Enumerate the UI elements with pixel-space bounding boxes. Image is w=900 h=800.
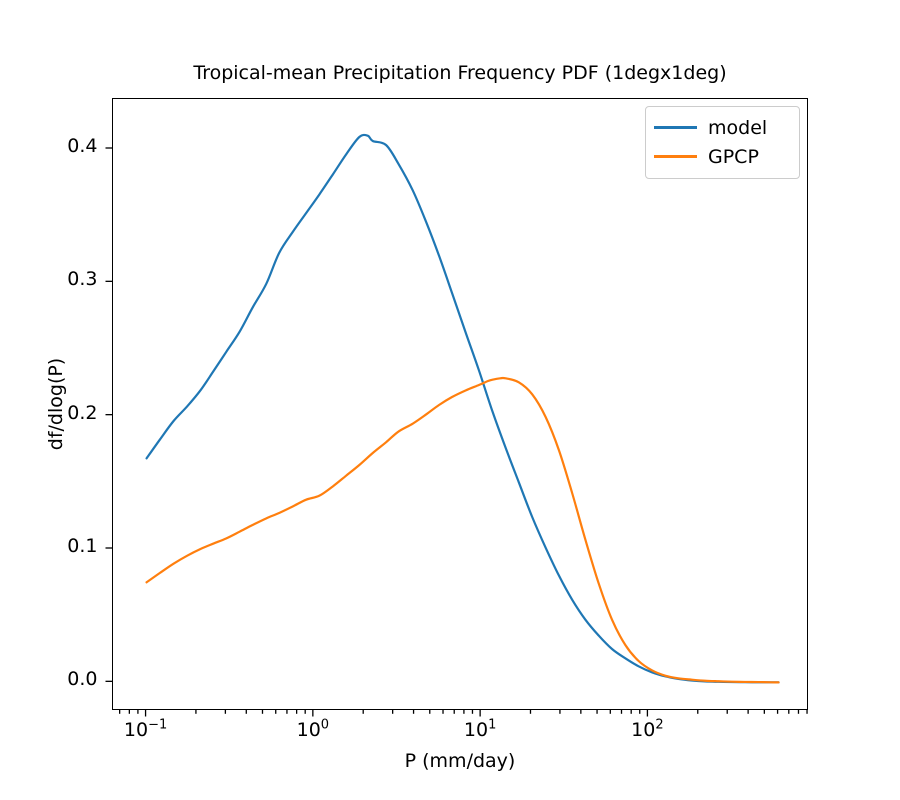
legend-box: model GPCP: [645, 106, 800, 179]
x-axis-label: P (mm/day): [112, 750, 808, 772]
x-tick-label: 100: [263, 719, 363, 741]
y-axis-label: df/dlog(P): [45, 98, 67, 710]
figure-canvas: Tropical-mean Precipitation Frequency PD…: [0, 0, 900, 800]
x-tick-label: 101: [430, 719, 530, 741]
legend-swatch-gpcp: [654, 155, 697, 158]
legend-swatch-model: [654, 126, 697, 129]
plot-area: [112, 98, 808, 710]
legend-item-gpcp: GPCP: [654, 142, 791, 171]
legend-label-model: model: [708, 117, 767, 139]
series-line-model: [147, 135, 779, 682]
legend-label-gpcp: GPCP: [708, 146, 759, 168]
chart-title: Tropical-mean Precipitation Frequency PD…: [112, 62, 808, 84]
x-tick-label: 102: [597, 719, 697, 741]
x-tick-label: 10−1: [96, 719, 196, 741]
series-line-gpcp: [147, 378, 779, 682]
legend-item-model: model: [654, 113, 791, 142]
data-lines: [113, 99, 809, 711]
